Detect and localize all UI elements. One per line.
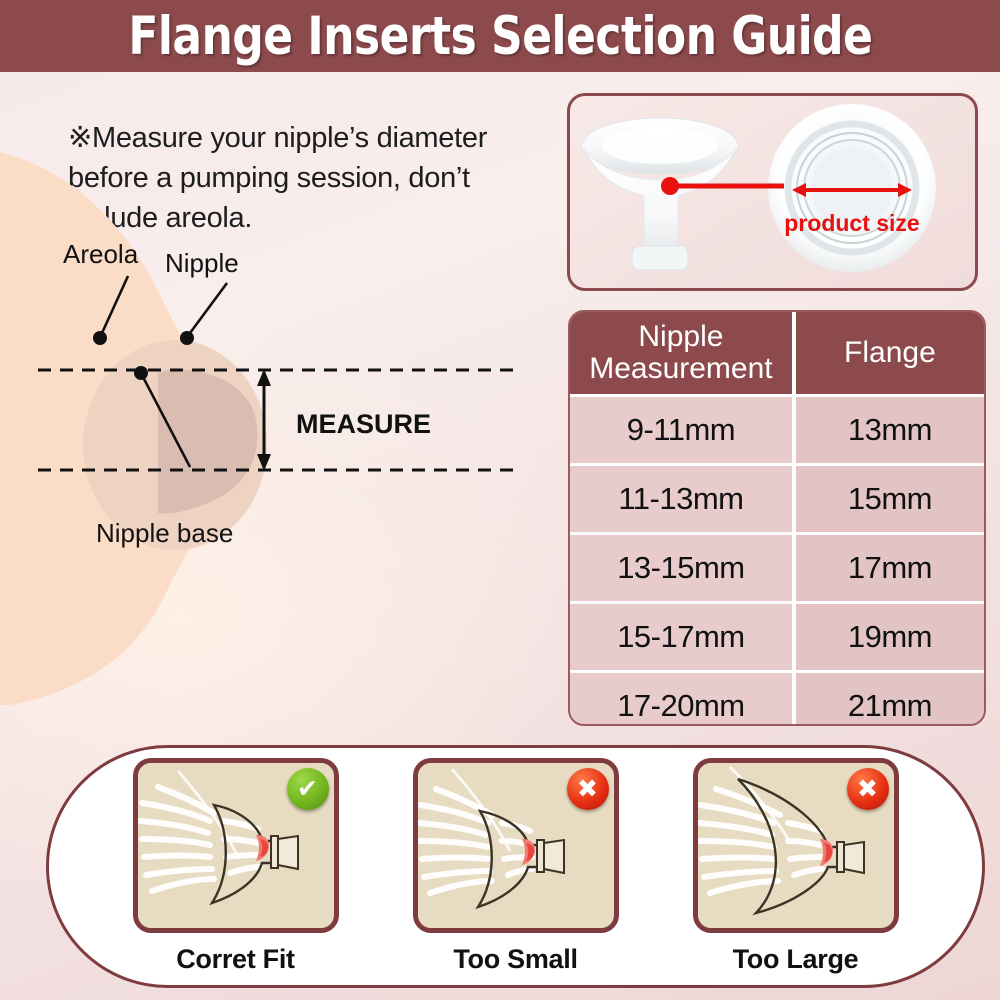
- table-row: 15-17mm 19mm: [570, 601, 984, 670]
- table-row: 9-11mm 13mm: [570, 394, 984, 463]
- cell-nipple-measurement: 11-13mm: [570, 466, 792, 532]
- fit-card-too-small: ✖ Too Small: [416, 758, 616, 975]
- status-badge-too-small: ✖: [567, 768, 609, 810]
- fit-label-correct: Corret Fit: [176, 944, 295, 975]
- cell-flange: 19mm: [792, 604, 984, 670]
- cell-flange: 13mm: [792, 397, 984, 463]
- table-row: 13-15mm 17mm: [570, 532, 984, 601]
- anatomy-diagram: Areola Nipple Nipple base MEASURE: [0, 145, 560, 705]
- cell-nipple-measurement: 15-17mm: [570, 604, 792, 670]
- fit-thumb-too-large: ✖: [693, 758, 899, 933]
- table-row: 11-13mm 15mm: [570, 463, 984, 532]
- fit-card-too-large: ✖ Too Large: [696, 758, 896, 975]
- cell-flange: 17mm: [792, 535, 984, 601]
- cell-nipple-measurement: 13-15mm: [570, 535, 792, 601]
- fit-thumb-too-small: ✖: [413, 758, 619, 933]
- label-measure: MEASURE: [296, 409, 431, 439]
- cell-flange: 15mm: [792, 466, 984, 532]
- product-panel-svg: product size: [570, 96, 971, 284]
- column-header-flange: Flange: [792, 312, 984, 394]
- infographic-page: Flange Inserts Selection Guide ※Measure …: [0, 0, 1000, 1000]
- measure-arrow-head-top: [257, 369, 271, 386]
- page-title: Flange Inserts Selection Guide: [128, 10, 872, 63]
- label-nipple: Nipple: [165, 248, 239, 278]
- product-size-label: product size: [784, 210, 919, 236]
- table-row: 17-20mm 21mm: [570, 670, 984, 726]
- label-nipple-base: Nipple base: [96, 518, 233, 548]
- cell-nipple-measurement: 17-20mm: [570, 673, 792, 726]
- cell-flange: 21mm: [792, 673, 984, 726]
- product-size-panel: product size: [567, 93, 978, 291]
- fit-card-correct: ✔ Corret Fit: [136, 758, 336, 975]
- nipple-leader-dot: [180, 331, 194, 345]
- column-header-nipple-measurement: Nipple Measurement: [570, 312, 792, 394]
- fit-examples-panel: ✔ Corret Fit: [46, 745, 985, 988]
- status-badge-too-large: ✖: [847, 768, 889, 810]
- status-badge-correct: ✔: [287, 768, 329, 810]
- nipple-leader-line: [190, 283, 227, 333]
- size-table: Nipple Measurement Flange 9-11mm 13mm 11…: [568, 310, 986, 726]
- page-header: Flange Inserts Selection Guide: [0, 0, 1000, 72]
- fit-thumb-correct: ✔: [133, 758, 339, 933]
- label-areola: Areola: [63, 239, 139, 269]
- size-table-header: Nipple Measurement Flange: [570, 312, 984, 394]
- nipple-base-leader-dot: [134, 366, 148, 380]
- cell-nipple-measurement: 9-11mm: [570, 397, 792, 463]
- fit-examples-row: ✔ Corret Fit: [49, 748, 982, 985]
- areola-leader-dot: [93, 331, 107, 345]
- fit-label-too-large: Too Large: [733, 944, 859, 975]
- anatomy-svg: Areola Nipple Nipple base MEASURE: [0, 145, 560, 705]
- flange-insert-side-view: [582, 118, 738, 270]
- fit-label-too-small: Too Small: [453, 944, 577, 975]
